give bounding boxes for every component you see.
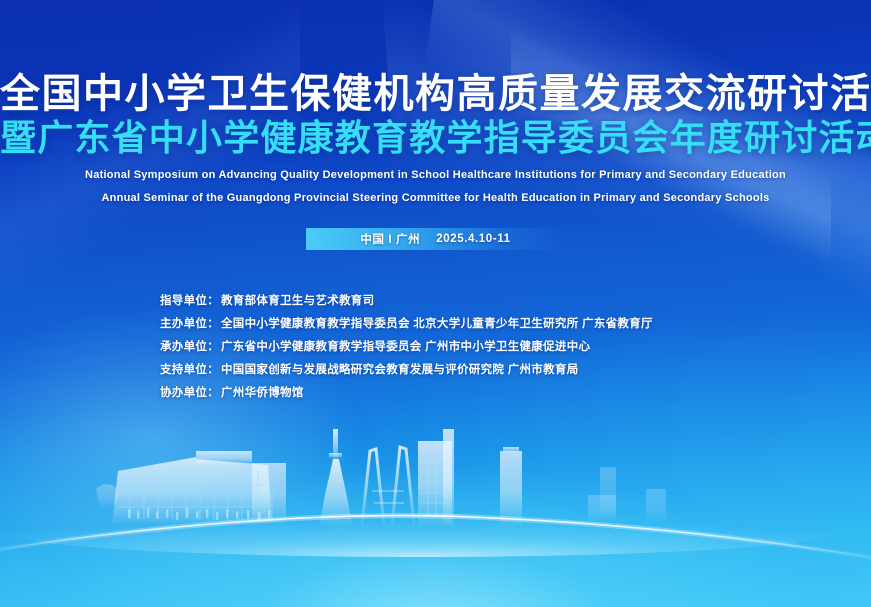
organizer-list: 指导单位：教育部体育卫生与艺术教育司 主办单位：全国中小学健康教育教学指导委员会… (160, 290, 653, 405)
organizer-label: 指导单位： (160, 295, 219, 307)
organizer-label: 承办单位： (160, 341, 219, 353)
right-tower-short (646, 489, 666, 523)
organizer-value: 全国中小学健康教育教学指导委员会 北京大学儿童青少年卫生研究所 广东省教育厅 (221, 318, 653, 330)
poster-subtitle-en-line1: National Symposium on Advancing Quality … (0, 168, 871, 183)
organizer-row-coorganizer: 协办单位：广州华侨博物馆 (160, 382, 653, 405)
campus-figures (128, 508, 270, 520)
organizer-row-host: 主办单位：全国中小学健康教育教学指导委员会 北京大学儿童青少年卫生研究所 广东省… (160, 313, 653, 336)
title-block: 全国中小学卫生保健机构高质量发展交流研讨活动 暨广东省中小学健康教育教学指导委员… (0, 72, 871, 206)
canton-tower (320, 429, 352, 525)
poster-title-line2: 暨广东省中小学健康教育教学指导委员会年度研讨活动 (0, 118, 871, 160)
organizer-value: 广州华侨博物馆 (221, 387, 304, 399)
school-window-grid (117, 467, 272, 521)
bottom-glow (0, 407, 871, 607)
school-building (96, 451, 286, 523)
horizon-arc (0, 407, 871, 607)
stepped-office-building (418, 429, 454, 525)
date-location-badge-row: 中国 I 广州 2025.4.10-11 (0, 228, 871, 250)
organizer-label: 协办单位： (160, 387, 219, 399)
organizer-value: 教育部体育卫生与艺术教育司 (221, 295, 374, 307)
poster-subtitle-en-line2: Annual Seminar of the Guangdong Provinci… (0, 191, 871, 206)
office-tower (500, 447, 522, 525)
organizer-label: 主办单位： (160, 318, 219, 330)
skyline-svg (0, 407, 871, 607)
twin-spire-towers (362, 447, 414, 525)
organizer-label: 支持单位： (160, 364, 219, 376)
ground-haze (0, 505, 840, 557)
badge-location: 中国 I 广州 (360, 231, 420, 247)
skyline-silhouette (0, 407, 871, 607)
right-tower-tall (588, 467, 616, 523)
organizer-row-guidance: 指导单位：教育部体育卫生与艺术教育司 (160, 290, 653, 313)
organizer-value: 广东省中小学健康教育教学指导委员会 广州市中小学卫生健康促进中心 (221, 341, 590, 353)
organizer-row-support: 支持单位：中国国家创新与发展战略研究会教育发展与评价研究院 广州市教育局 (160, 359, 653, 382)
campus-tree (96, 484, 118, 508)
organizer-value: 中国国家创新与发展战略研究会教育发展与评价研究院 广州市教育局 (221, 364, 579, 376)
horizon-arc-svg (0, 407, 871, 607)
badge-date: 2025.4.10-11 (436, 233, 510, 245)
date-location-badge: 中国 I 广州 2025.4.10-11 (306, 228, 566, 250)
poster-title-line1: 全国中小学卫生保健机构高质量发展交流研讨活动 (0, 72, 871, 116)
organizer-row-organizer: 承办单位：广东省中小学健康教育教学指导委员会 广州市中小学卫生健康促进中心 (160, 336, 653, 359)
tower-bridge (372, 491, 404, 503)
conference-poster: 全国中小学卫生保健机构高质量发展交流研讨活动 暨广东省中小学健康教育教学指导委员… (0, 0, 871, 607)
